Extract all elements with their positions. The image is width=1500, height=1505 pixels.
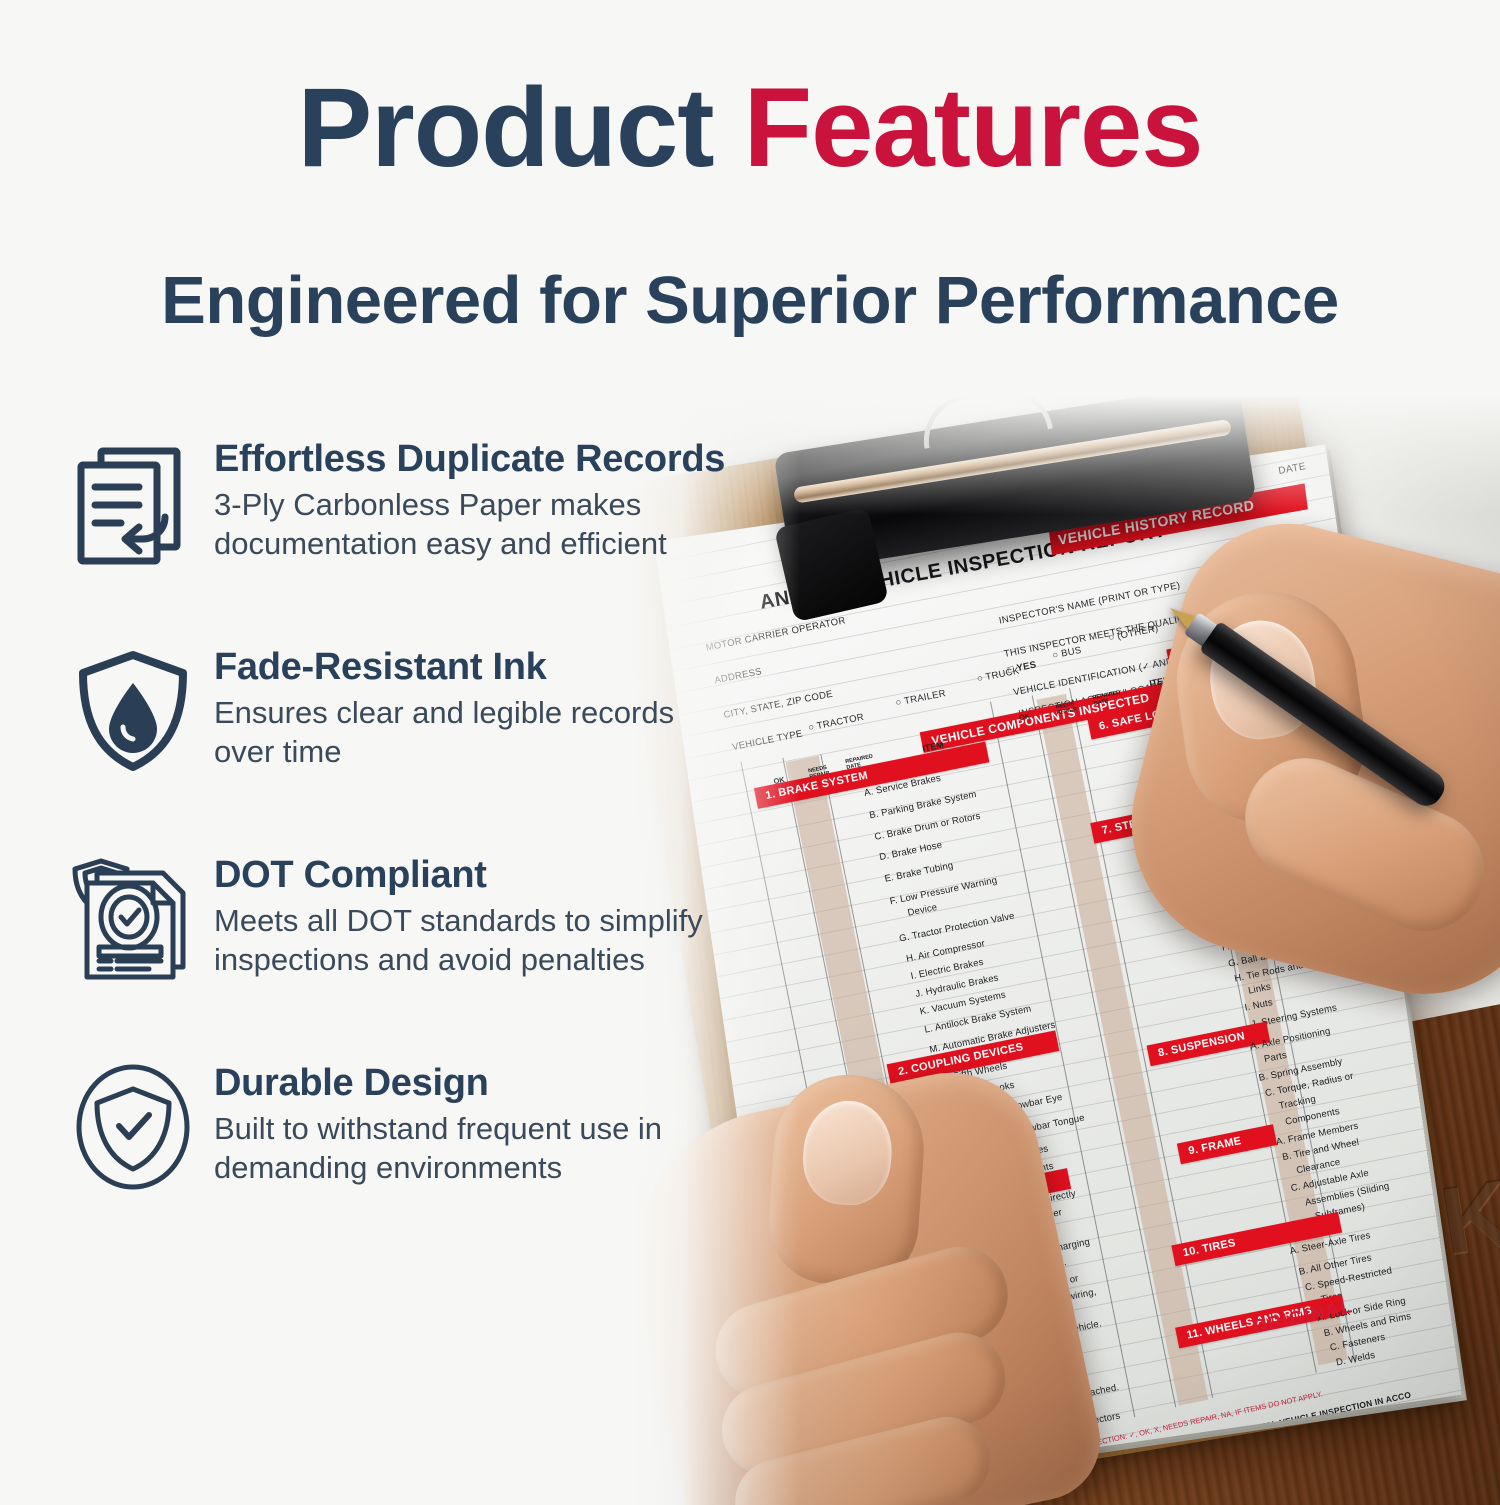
headline-word-features: Features bbox=[744, 65, 1203, 190]
form-item: Device bbox=[907, 902, 939, 919]
feature-desc-line-2: documentation easy and efficient bbox=[214, 526, 667, 561]
certified-document-shield-icon bbox=[58, 844, 208, 994]
shield-ink-drop-icon bbox=[58, 636, 208, 786]
feature-text-block: Effortless Duplicate Records 3-Ply Carbo… bbox=[208, 428, 725, 564]
feature-list: Effortless Duplicate Records 3-Ply Carbo… bbox=[58, 428, 758, 1260]
feature-text-block: DOT Compliant Meets all DOT standards to… bbox=[208, 844, 703, 980]
feature-item-dot-compliant: DOT Compliant Meets all DOT standards to… bbox=[58, 844, 758, 994]
feature-title: Effortless Duplicate Records bbox=[214, 438, 725, 481]
form-option-trailer: ○ TRAILER bbox=[895, 688, 947, 709]
pen-index-finger bbox=[1226, 739, 1500, 950]
duplicate-documents-icon bbox=[58, 428, 208, 578]
product-photo-clipboard-inspection-form: BUCK U.S. ANNUAL VEHICLE INSPECTION REPO… bbox=[630, 395, 1500, 1505]
form-item: E. Brake Tubing bbox=[884, 860, 955, 885]
feature-description: Built to withstand frequent use in deman… bbox=[214, 1109, 662, 1188]
page-title: Product Features bbox=[0, 72, 1500, 184]
feature-description: Ensures clear and legible records over t… bbox=[214, 693, 674, 772]
headline-word-product: Product bbox=[297, 65, 743, 190]
feature-desc-line-2: inspections and avoid penalties bbox=[214, 942, 645, 977]
thumb bbox=[764, 1070, 928, 1290]
feature-desc-line-2: demanding environments bbox=[214, 1150, 562, 1185]
feature-desc-line-1: 3-Ply Carbonless Paper makes bbox=[214, 487, 641, 522]
form-date-label: DATE bbox=[1278, 461, 1307, 477]
page-subtitle: Engineered for Superior Performance bbox=[0, 262, 1500, 339]
feature-desc-line-1: Meets all DOT standards to simplify bbox=[214, 903, 703, 938]
feature-title: DOT Compliant bbox=[214, 854, 703, 897]
feature-title: Durable Design bbox=[214, 1062, 662, 1105]
form-option-tractor: ○ TRACTOR bbox=[807, 712, 865, 734]
feature-item-duplicate-records: Effortless Duplicate Records 3-Ply Carbo… bbox=[58, 428, 758, 578]
feature-description: Meets all DOT standards to simplify insp… bbox=[214, 901, 703, 980]
form-item: D. Brake Hose bbox=[878, 840, 943, 863]
shield-check-circle-icon bbox=[58, 1052, 208, 1202]
feature-title: Fade-Resistant Ink bbox=[214, 646, 674, 689]
feature-description: 3-Ply Carbonless Paper makes documentati… bbox=[214, 485, 725, 564]
feature-text-block: Fade-Resistant Ink Ensures clear and leg… bbox=[208, 636, 674, 772]
feature-desc-line-2: over time bbox=[214, 734, 341, 769]
feature-desc-line-1: Ensures clear and legible records bbox=[214, 695, 674, 730]
feature-item-fade-resistant-ink: Fade-Resistant Ink Ensures clear and leg… bbox=[58, 636, 758, 786]
feature-text-block: Durable Design Built to withstand freque… bbox=[208, 1052, 662, 1188]
feature-item-durable-design: Durable Design Built to withstand freque… bbox=[58, 1052, 758, 1202]
section-bar-frame: 9. FRAME bbox=[1177, 1124, 1277, 1164]
form-option-truck: ○ TRUCK bbox=[976, 666, 1020, 685]
thumbnail bbox=[800, 1098, 895, 1208]
feature-desc-line-1: Built to withstand frequent use in bbox=[214, 1111, 662, 1146]
